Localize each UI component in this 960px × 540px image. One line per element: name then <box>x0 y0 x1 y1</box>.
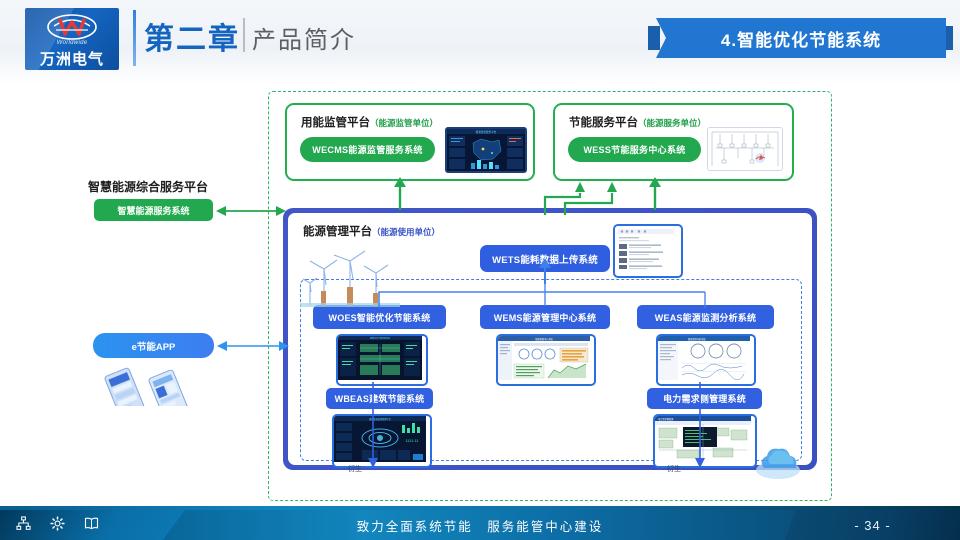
slide-root: Worldwide 万洲电气 第二章 产品简介 4.智能优化节能系统 用能监管平… <box>0 0 960 540</box>
arrow-down-weas-to-power <box>692 382 708 468</box>
service-platform-title: 节能服务平台（能源服务单位） <box>569 114 706 130</box>
supervision-platform-box: 用能监管平台（能源监管单位） WECMS能源监管服务系统 能源监管服务平台 <box>285 103 535 181</box>
arrow-app-bidirectional <box>217 337 289 355</box>
wess-pill[interactable]: WESS节能服务中心系统 <box>568 137 701 162</box>
mobile-app-illustration <box>95 360 215 406</box>
svg-text:能源监管服务平台: 能源监管服务平台 <box>476 130 497 134</box>
supervision-platform-subtitle: （能源监管单位） <box>370 118 438 128</box>
section-banner: 4.智能优化节能系统 <box>656 18 946 58</box>
wbeas-building-dashboard-screenshot: 建筑能耗监测管理平台 1111.11 <box>332 414 432 468</box>
architecture-diagram: 用能监管平台（能源监管单位） WECMS能源监管服务系统 能源监管服务平台 <box>0 84 960 496</box>
energy-service-diagram-thumbnail <box>707 127 783 171</box>
smart-energy-service-pill[interactable]: 智慧能源服务系统 <box>94 199 213 221</box>
page-number: - 34 - <box>785 510 960 540</box>
energy-platform-subtitle: （能源使用单位） <box>372 227 440 237</box>
logo-english-text: Worldwide <box>25 40 119 46</box>
woes-scada-screenshot: 智能优化节能控制系统 <box>336 334 428 386</box>
chapter-separator <box>243 18 245 52</box>
data-upload-report-thumbnail <box>613 224 683 278</box>
chapter-subtitle: 产品简介 <box>252 20 356 55</box>
logo-chinese-text: 万洲电气 <box>25 48 119 69</box>
arrow-smart-energy-bidirectional <box>216 202 286 220</box>
energy-platform-title: 能源管理平台（能源使用单位） <box>303 223 440 239</box>
company-logo: Worldwide 万洲电气 <box>25 8 119 70</box>
derive-label-2: 衍生 <box>667 464 681 474</box>
tree-connector-lines <box>300 280 800 310</box>
wems-management-screenshot: 能源管理中心系统 <box>496 334 596 386</box>
supervision-platform-title-text: 用能监管平台 <box>301 117 370 129</box>
arrow-down-woes-to-wbeas <box>365 382 381 468</box>
derive-label-1: 衍生 <box>348 464 362 474</box>
service-platform-subtitle: （能源服务单位） <box>638 118 706 128</box>
wecms-pill[interactable]: WECMS能源监管服务系统 <box>300 137 435 162</box>
service-platform-box: 节能服务平台（能源服务单位） WESS节能服务中心系统 <box>553 103 794 181</box>
header-divider <box>133 10 136 66</box>
cloud-illustration <box>752 440 804 484</box>
arrow-wets-to-platforms <box>520 177 666 215</box>
energy-platform-title-text: 能源管理平台 <box>303 226 372 238</box>
ribbon-tail-left <box>648 26 660 50</box>
chapter-title: 第二章 <box>144 14 240 58</box>
weas-analysis-screenshot: 能源监测分析系统 <box>656 334 756 386</box>
smart-energy-platform-title: 智慧能源综合服务平台 <box>88 178 208 195</box>
slide-footer: 致力全面系统节能 服务能管中心建设 - 34 - <box>0 510 960 540</box>
energy-supervision-dashboard-thumbnail: 能源监管服务平台 <box>445 127 527 173</box>
supervision-platform-title: 用能监管平台（能源监管单位） <box>301 114 438 130</box>
slide-header: Worldwide 万洲电气 第二章 产品简介 4.智能优化节能系统 <box>0 0 960 84</box>
svg-text:1111.11: 1111.11 <box>405 438 419 443</box>
e-app-pill[interactable]: e节能APP <box>93 333 214 358</box>
arrow-up-to-supervision <box>390 177 410 210</box>
service-platform-title-text: 节能服务平台 <box>569 117 638 129</box>
